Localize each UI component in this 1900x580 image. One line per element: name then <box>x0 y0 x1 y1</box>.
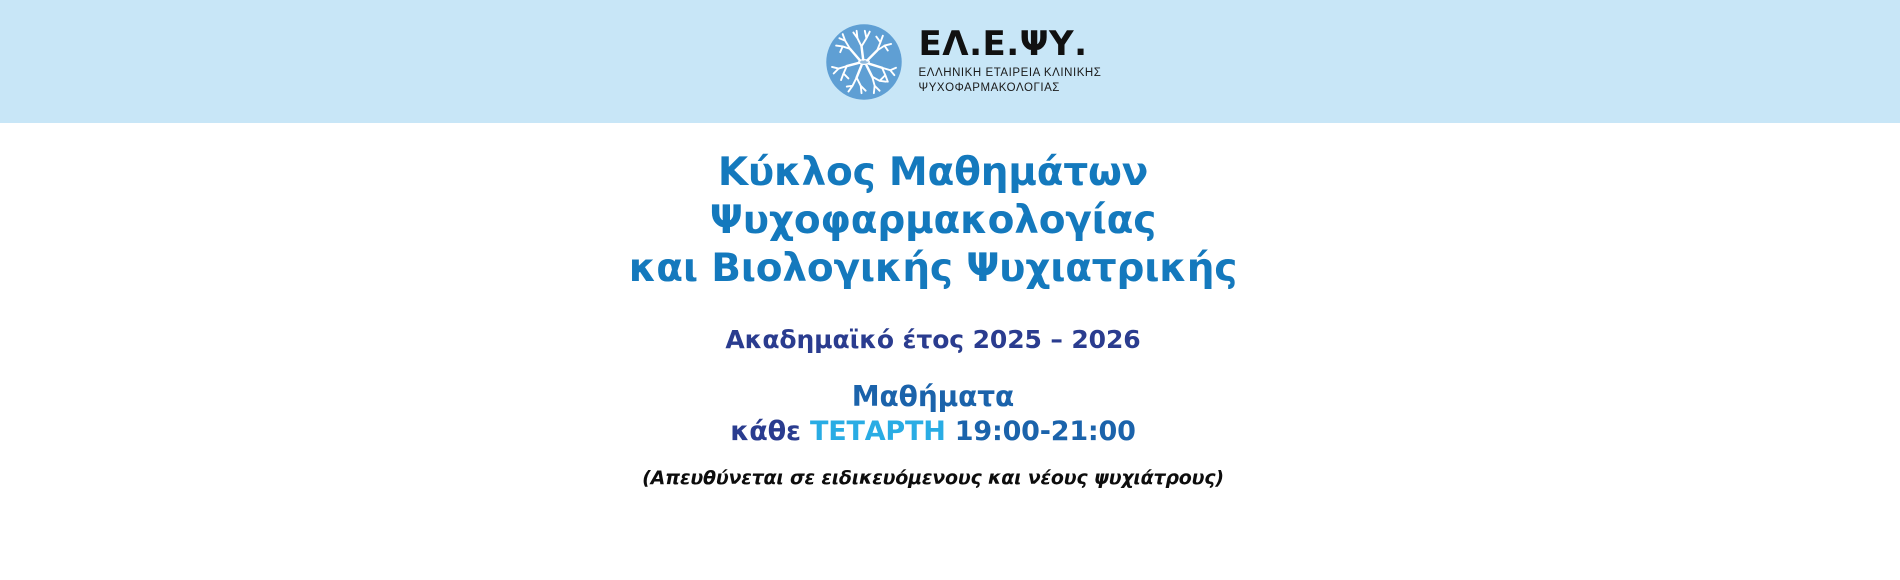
schedule-every: κάθε <box>730 416 801 447</box>
schedule-day: ΤΕΤΑΡΤΗ <box>810 416 946 447</box>
poster-body: Κύκλος Μαθημάτων Ψυχοφαρμακολογίας και Β… <box>0 123 1900 580</box>
poster-banner: ΕΛ.Ε.ΨΥ. ΕΛΛΗΝΙΚΗ ΕΤΑΙΡΕΙΑ ΚΛΙΝΙΚΗΣ ΨΥΧΟ… <box>0 0 1900 580</box>
logo-wordmark: ΕΛ.Ε.ΨΥ. ΕΛΛΗΝΙΚΗ ΕΤΑΙΡΕΙΑ ΚΛΙΝΙΚΗΣ ΨΥΧΟ… <box>919 27 1102 96</box>
logo-acronym: ΕΛ.Ε.ΨΥ. <box>919 27 1088 62</box>
title-line-1: Κύκλος Μαθημάτων <box>0 149 1883 197</box>
academic-year: Ακαδημαϊκό έτος 2025 – 2026 <box>0 325 1883 354</box>
title-line-2: Ψυχοφαρμακολογίας <box>0 197 1883 245</box>
schedule-line: κάθε ΤΕΤΑΡΤΗ 19:00-21:00 <box>0 416 1883 447</box>
logo-subtitle-line-2: ΨΥΧΟΦΑΡΜΑΚΟΛΟΓΙΑΣ <box>919 81 1102 96</box>
content-column: Κύκλος Μαθημάτων Ψυχοφαρμακολογίας και Β… <box>0 123 1883 489</box>
schedule-hours: 19:00-21:00 <box>955 416 1136 447</box>
lessons-label: Μαθήματα <box>0 380 1883 413</box>
society-logo: ΕΛ.Ε.ΨΥ. ΕΛΛΗΝΙΚΗ ΕΤΑΙΡΕΙΑ ΚΛΙΝΙΚΗΣ ΨΥΧΟ… <box>823 21 1102 103</box>
page-title: Κύκλος Μαθημάτων Ψυχοφαρμακολογίας και Β… <box>0 149 1883 293</box>
logo-subtitle-line-1: ΕΛΛΗΝΙΚΗ ΕΤΑΙΡΕΙΑ ΚΛΙΝΙΚΗΣ <box>919 66 1102 81</box>
header-band: ΕΛ.Ε.ΨΥ. ΕΛΛΗΝΙΚΗ ΕΤΑΙΡΕΙΑ ΚΛΙΝΙΚΗΣ ΨΥΧΟ… <box>0 0 1900 123</box>
neuron-circle-icon <box>823 21 905 103</box>
audience-note: (Απευθύνεται σε ειδικευόμενους και νέους… <box>0 467 1883 489</box>
title-line-3: και Βιολογικής Ψυχιατρικής <box>0 245 1883 293</box>
logo-subtitle: ΕΛΛΗΝΙΚΗ ΕΤΑΙΡΕΙΑ ΚΛΙΝΙΚΗΣ ΨΥΧΟΦΑΡΜΑΚΟΛΟ… <box>919 66 1102 96</box>
